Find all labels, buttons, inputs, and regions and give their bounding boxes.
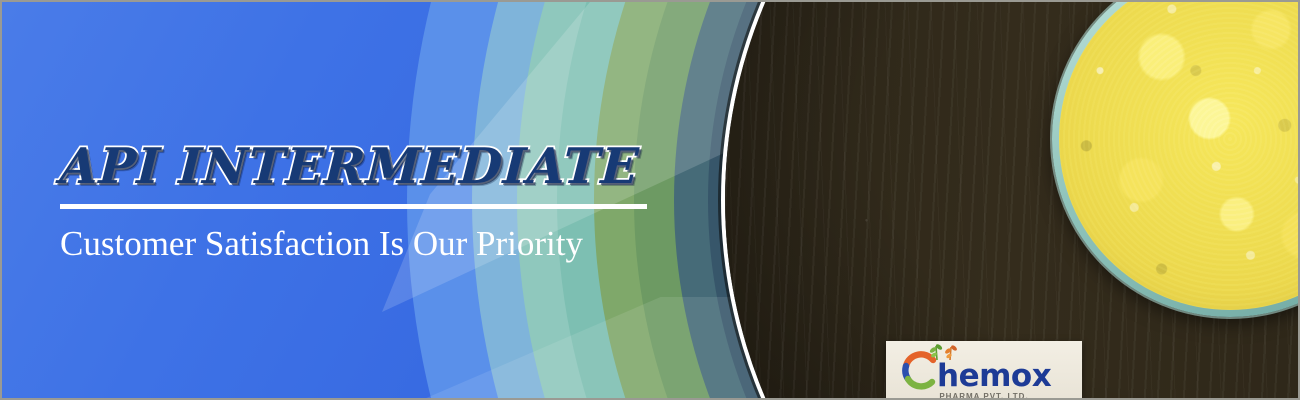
promo-banner: hemox PHARMA PVT. LTD. API INTERMEDIATE … xyxy=(0,0,1300,400)
chemox-tagline: PHARMA PVT. LTD. xyxy=(886,392,1082,400)
chemox-logo: hemox xyxy=(900,351,1051,391)
page-title: API INTERMEDIATE xyxy=(59,138,682,194)
banner-text-block: API INTERMEDIATE Customer Satisfaction I… xyxy=(60,138,680,265)
product-photo-circle xyxy=(725,0,1300,400)
chemox-label-card: hemox PHARMA PVT. LTD. xyxy=(886,341,1082,400)
chemox-wordmark: hemox xyxy=(937,361,1051,391)
leaf-sprig-icon xyxy=(927,341,961,361)
banner-subtitle: Customer Satisfaction Is Our Priority xyxy=(60,223,680,265)
title-underline-rule xyxy=(60,204,647,209)
